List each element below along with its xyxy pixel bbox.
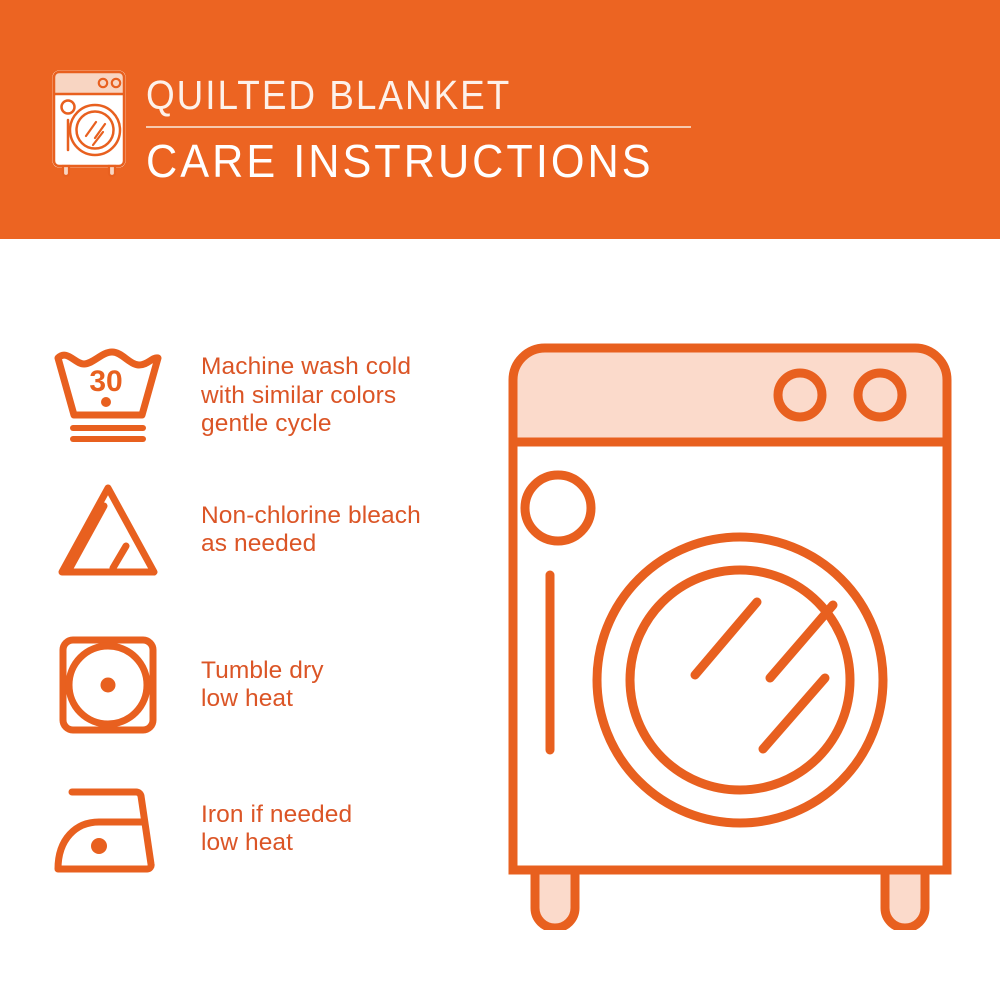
- non-chlorine-bleach-triangle-icon: [48, 480, 168, 580]
- care-instruction-list: 30 Machine wash cold with similar colors…: [0, 239, 480, 1000]
- care-row-text: Non-chlorine bleach as needed: [201, 502, 421, 559]
- care-line: Iron if needed: [201, 801, 352, 830]
- leg-right: [885, 870, 925, 928]
- header-title-block: QUILTED BLANKET CARE INSTRUCTIONS: [146, 72, 691, 187]
- care-line: low heat: [201, 829, 352, 858]
- care-row: Tumble dry low heat: [48, 635, 478, 735]
- care-line: Non-chlorine bleach: [201, 502, 421, 531]
- page-title-primary: QUILTED BLANKET: [146, 72, 637, 118]
- washing-machine-logo: [46, 66, 138, 178]
- care-line: with similar colors: [201, 382, 411, 411]
- washing-machine-illustration: [495, 330, 965, 930]
- iron-low-heat-icon: [48, 784, 168, 874]
- header-banner: QUILTED BLANKET CARE INSTRUCTIONS: [0, 0, 1000, 239]
- wash-temperature-value: 30: [89, 365, 122, 398]
- care-line: as needed: [201, 530, 421, 559]
- top-panel: [513, 348, 947, 442]
- leg-left: [535, 870, 575, 928]
- page-title-secondary: CARE INSTRUCTIONS: [146, 135, 658, 187]
- care-row-text: Tumble dry low heat: [201, 657, 324, 714]
- care-row-text: Machine wash cold with similar colors ge…: [201, 353, 411, 439]
- care-row: Non-chlorine bleach as needed: [48, 480, 478, 580]
- title-divider: [146, 126, 691, 128]
- tumble-dry-low-heat-icon: [48, 635, 168, 735]
- care-line: Tumble dry: [201, 657, 324, 686]
- care-line: Machine wash cold: [201, 353, 411, 382]
- care-row: 30 Machine wash cold with similar colors…: [48, 344, 478, 448]
- care-line: low heat: [201, 685, 324, 714]
- wash-tub-30-icon: 30: [48, 344, 168, 448]
- care-row: Iron if needed low heat: [48, 784, 478, 874]
- care-row-text: Iron if needed low heat: [201, 801, 352, 858]
- care-line: gentle cycle: [201, 410, 411, 439]
